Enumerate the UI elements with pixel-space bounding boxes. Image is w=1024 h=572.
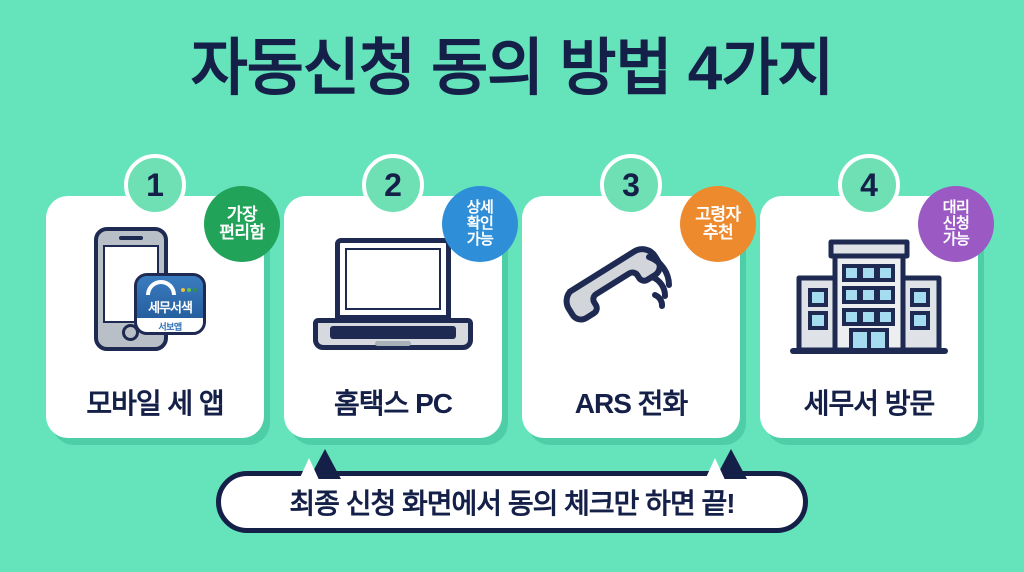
badge-line-3: 가능 [467,232,494,248]
card-number-badge: 4 [838,154,900,216]
building-svg [789,228,949,364]
card-number-badge: 3 [600,154,662,216]
method-card-row: 1 가장 편리함 세무서색 [46,196,978,438]
card-number-badge: 1 [124,154,186,216]
badge-line-2: 신청 [943,216,970,232]
app-logo-title: 세무서색 [137,297,203,316]
badge-line-2: 확인 [467,216,494,232]
tax-app-logo-icon: 세무서색 서보앱 [134,273,206,335]
mobile-phone-app-icon: 세무서색 서보앱 [80,221,230,371]
badge-line-3: 가능 [943,232,970,248]
feature-badge-blue: 상세 확인 가능 [442,186,518,262]
laptop-trackpad-icon [375,341,411,346]
handset-svg [556,231,706,361]
method-card-tax-office-visit[interactable]: 4 대리 신청 가능 [760,196,978,438]
badge-line-1: 가장 [227,206,257,224]
card-label-hometax-pc: 홈택스 PC [284,382,502,422]
laptop-icon [313,236,473,356]
page-title: 자동신청 동의 방법 4가지 [0,38,1024,100]
summary-speech-bubble: 최종 신청 화면에서 동의 체크만 하면 끝! [216,471,808,533]
office-building-icon [789,228,949,364]
feature-badge-purple: 대리 신청 가능 [918,186,994,262]
logo-dots-icon [181,288,197,292]
summary-text: 최종 신청 화면에서 동의 체크만 하면 끝! [289,482,734,522]
badge-line-1: 상세 [467,200,494,216]
phone-speaker-icon [119,236,143,240]
feature-badge-green: 가장 편리함 [204,186,280,262]
laptop-base [313,318,473,350]
card-label-mobile-app: 모바일 세 앱 [46,382,264,422]
arch-icon [146,280,176,295]
laptop-keyboard-icon [330,326,456,339]
card-number-badge: 2 [362,154,424,216]
badge-line-1: 대리 [943,200,970,216]
badge-line-2: 편리함 [219,224,264,242]
method-card-hometax-pc[interactable]: 2 상세 확인 가능 홈택스 PC [284,196,502,438]
badge-line-1: 고령자 [695,206,740,224]
laptop-lid [335,238,451,320]
method-card-ars-phone[interactable]: 3 고령자 추천 ARS 전화 [522,196,740,438]
method-card-mobile-app[interactable]: 1 가장 편리함 세무서색 [46,196,264,438]
card-label-tax-office-visit: 세무서 방문 [760,382,978,422]
app-logo-subtitle: 서보앱 [137,318,203,335]
app-logo-top: 세무서색 [137,276,203,318]
laptop-screen [345,248,441,310]
card-label-ars-phone: ARS 전화 [522,382,740,422]
feature-badge-orange: 고령자 추천 [680,186,756,262]
badge-line-2: 추천 [703,224,733,242]
telephone-handset-icon [556,231,706,361]
